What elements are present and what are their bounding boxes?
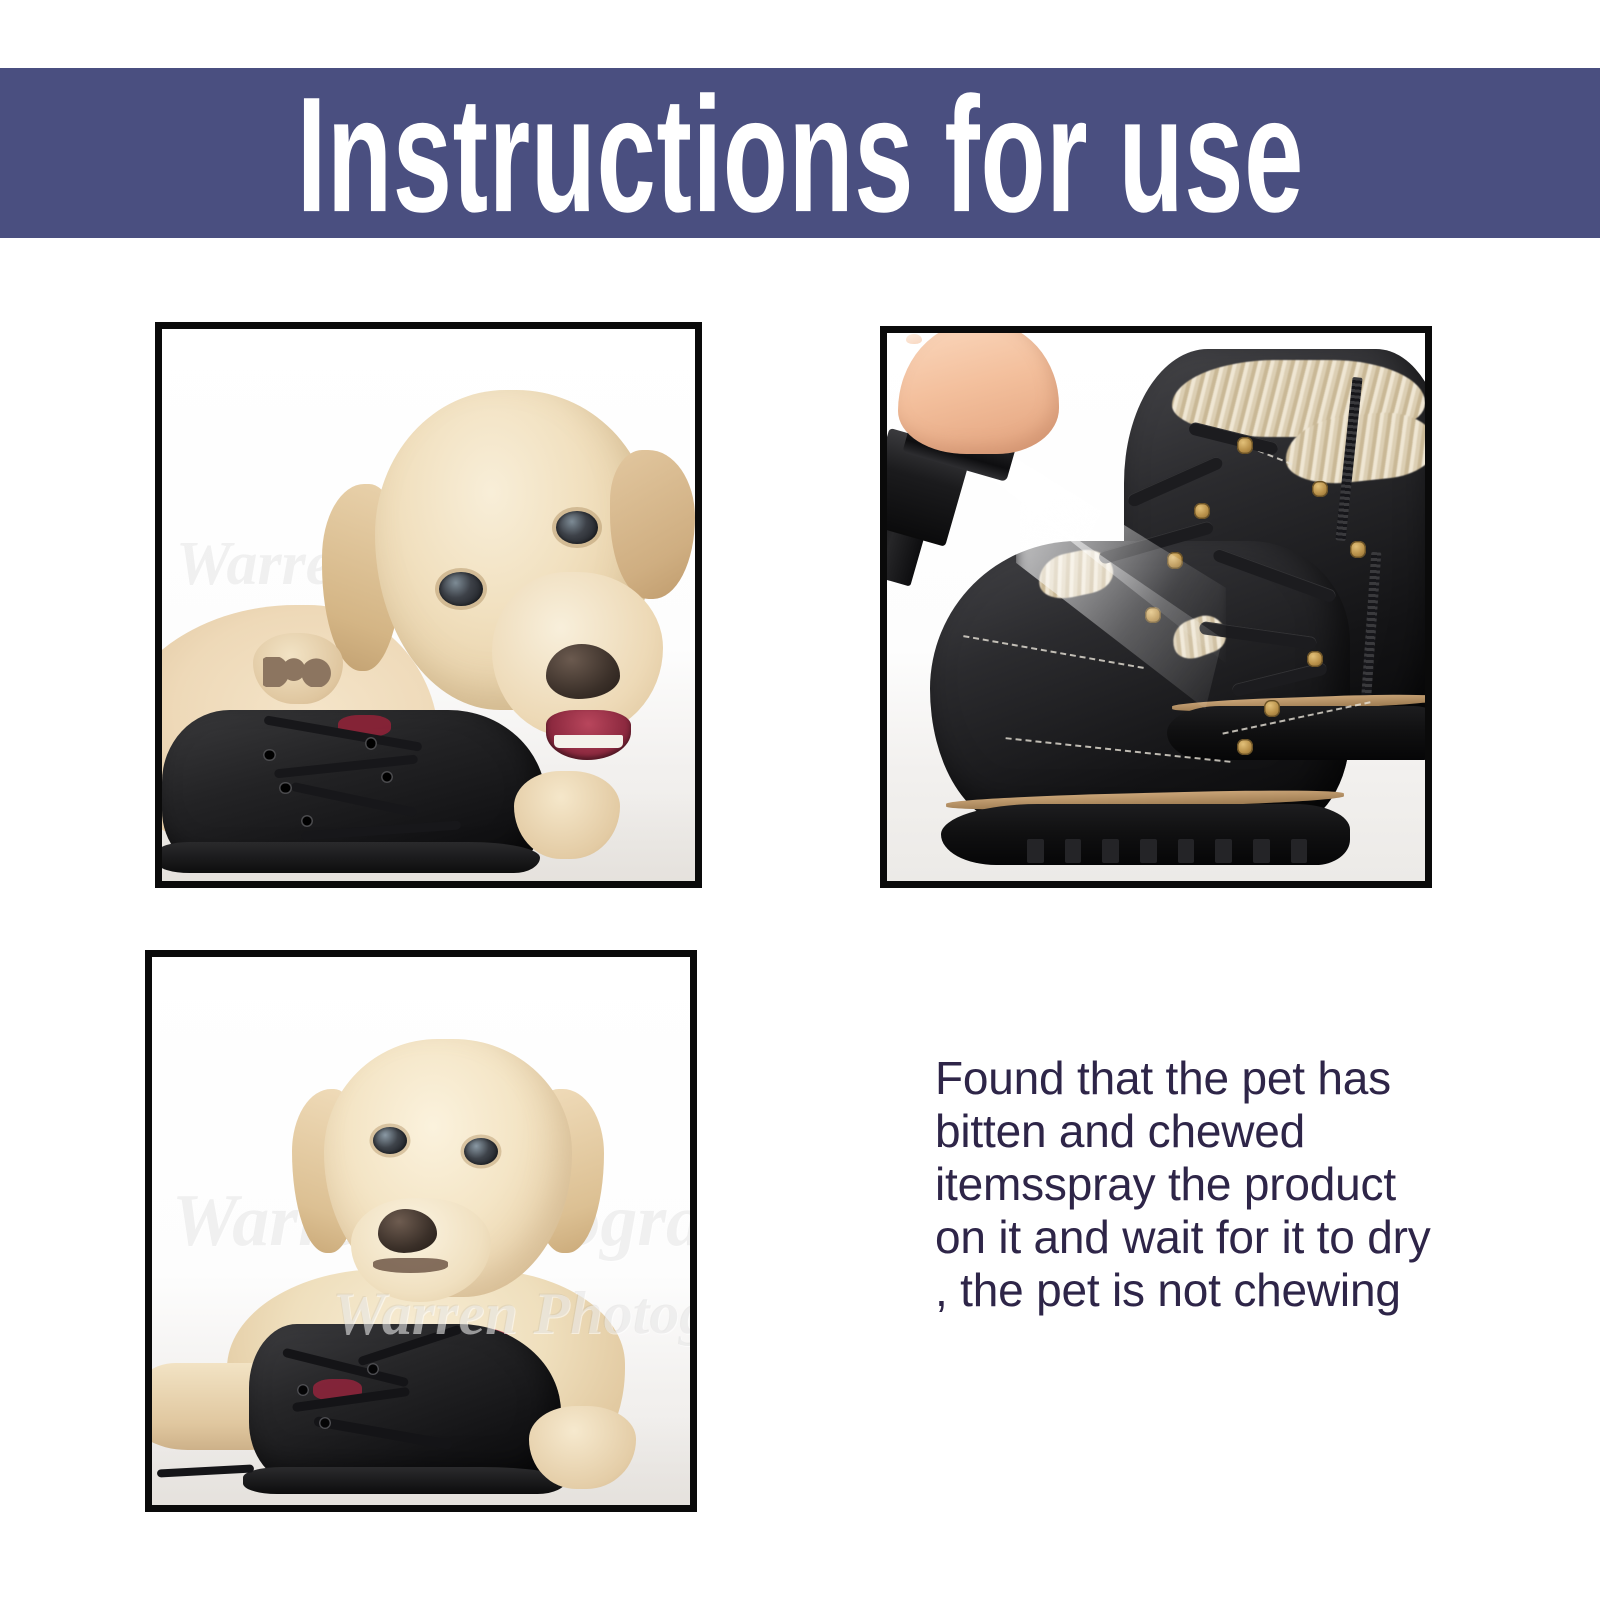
puppy-eye-left <box>373 1127 407 1154</box>
puppy-eye-left <box>439 572 483 606</box>
puppy-nose <box>378 1209 437 1253</box>
sole-lug <box>1102 839 1119 863</box>
photo-dog-with-shoe-image: Warren Photographic Warren Photographic <box>152 957 690 1505</box>
puppy-eye-right <box>556 511 598 544</box>
shoe-eyelet <box>301 815 313 828</box>
shoe-eyelet <box>381 771 393 784</box>
boot-eyelet <box>1264 700 1280 716</box>
boot-eyelet <box>1237 437 1253 453</box>
photo-dog-with-shoe: Warren Photographic Warren Photographic <box>145 950 697 1512</box>
boot-eyelet <box>1350 541 1366 557</box>
sole-lug <box>1178 839 1195 863</box>
shoe-sole <box>243 1467 566 1494</box>
boot-eyelet <box>1312 481 1328 497</box>
fingernail <box>906 334 922 345</box>
shoe-eyelet <box>263 749 275 762</box>
photo-dog-chewing-shoe-image: Warren <box>162 329 695 881</box>
boot-eyelet <box>1194 503 1210 519</box>
sole-lug <box>1253 839 1270 863</box>
puppy-teeth <box>554 735 623 748</box>
photo-spray-on-boots-image <box>887 333 1425 881</box>
boot-eyelet <box>1237 739 1253 755</box>
shoe-eyelet <box>365 737 377 750</box>
boot-sole-rear <box>1167 706 1425 761</box>
sole-lug <box>1140 839 1157 863</box>
instruction-paragraph: Found that the pet has bitten and chewed… <box>935 1052 1455 1317</box>
page-title: Instructions for use <box>296 73 1303 237</box>
hand-finger <box>898 333 1059 454</box>
shoe-eyelet <box>319 1417 331 1429</box>
shoe-eyelet <box>367 1363 379 1375</box>
puppy-paw-pads <box>263 657 332 687</box>
puppy-mouth <box>373 1258 448 1272</box>
sole-lug <box>1291 839 1308 863</box>
header-band: Instructions for use <box>0 68 1600 238</box>
shoe-eyelet <box>279 782 291 795</box>
boot-eyelet <box>1307 651 1323 667</box>
shoe-sole <box>162 842 540 872</box>
photo-spray-on-boots <box>880 326 1432 888</box>
sole-lug <box>1065 839 1082 863</box>
sole-lug <box>1027 839 1044 863</box>
sole-lug <box>1215 839 1232 863</box>
photo-dog-chewing-shoe: Warren <box>155 322 702 888</box>
